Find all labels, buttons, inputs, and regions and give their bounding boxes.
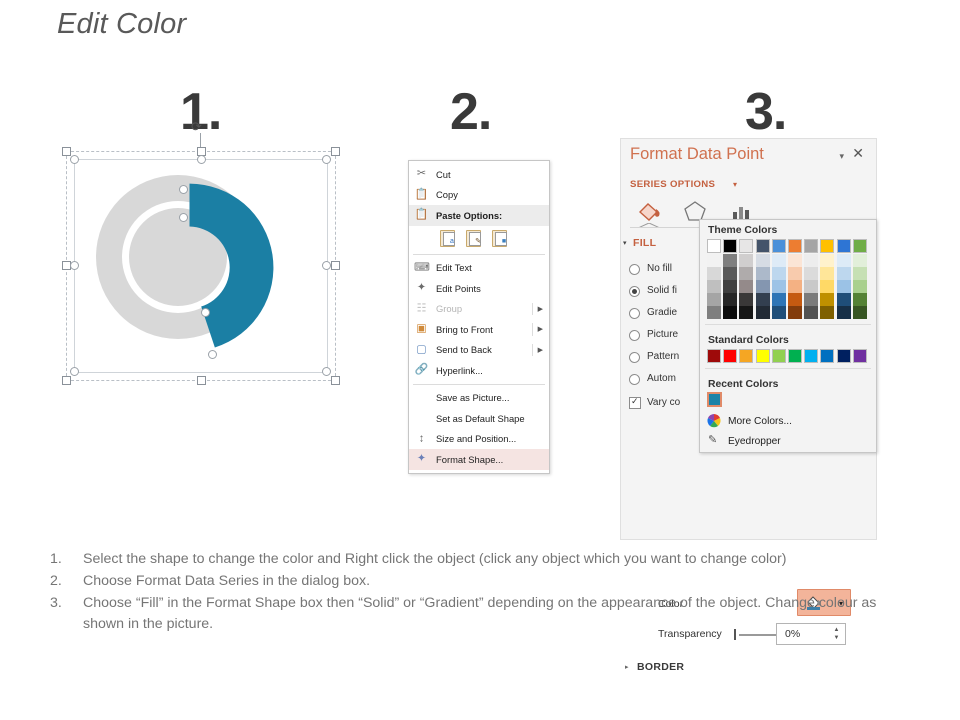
fill-option-picture[interactable]: Picture	[647, 329, 678, 340]
selection-handle-se[interactable]	[331, 376, 340, 385]
selection-handle-e[interactable]	[331, 261, 340, 270]
theme-shade-swatch-8-1[interactable]	[837, 267, 851, 280]
standard-color-swatch-2[interactable]	[739, 349, 753, 363]
close-icon[interactable]: ✕	[852, 146, 864, 160]
theme-shade-swatch-9-2[interactable]	[853, 280, 867, 293]
theme-shade-swatch-2-1[interactable]	[739, 267, 753, 280]
expand-triangle-icon[interactable]: ▸	[625, 663, 629, 671]
datapoint-handle-inner-top[interactable]	[179, 213, 188, 222]
step-number-3: 3.	[745, 86, 786, 138]
theme-shade-swatch-5-4[interactable]	[788, 306, 802, 319]
theme-shade-swatch-1-0[interactable]	[723, 254, 737, 267]
theme-shade-swatch-6-0[interactable]	[804, 254, 818, 267]
group-icon: ☷	[414, 301, 429, 316]
theme-shade-swatch-4-0[interactable]	[772, 254, 786, 267]
menu-item-hyperlink[interactable]: 🔗 Hyperlink...	[409, 360, 549, 381]
fill-bucket-icon[interactable]	[636, 199, 662, 223]
eyedropper-icon: ✎	[708, 434, 721, 447]
theme-shade-swatch-0-3[interactable]	[707, 293, 721, 306]
inner-handle-nw[interactable]	[70, 155, 79, 164]
theme-shade-swatch-1-3[interactable]	[723, 293, 737, 306]
theme-shade-row-1[interactable]	[700, 267, 876, 280]
fill-option-gradient[interactable]: Gradie	[647, 307, 677, 318]
format-shape-icon: ✦	[414, 452, 429, 467]
theme-shade-swatch-6-1[interactable]	[804, 267, 818, 280]
selection-handle-s[interactable]	[197, 376, 206, 385]
chevron-down-icon[interactable]: ▾	[733, 180, 737, 189]
theme-shade-swatch-7-3[interactable]	[820, 293, 834, 306]
theme-shade-swatch-8-4[interactable]	[837, 306, 851, 319]
fill-option-solid-fill[interactable]: Solid fi	[647, 285, 677, 296]
series-options-label[interactable]: SERIES OPTIONS	[630, 179, 715, 190]
theme-shade-swatch-9-3[interactable]	[853, 293, 867, 306]
standard-color-swatch-9[interactable]	[853, 349, 867, 363]
theme-shade-swatch-0-2[interactable]	[707, 280, 721, 293]
theme-shade-swatch-2-4[interactable]	[739, 306, 753, 319]
theme-shade-swatch-3-3[interactable]	[756, 293, 770, 306]
standard-color-swatch-1[interactable]	[723, 349, 737, 363]
theme-shade-swatch-0-0[interactable]	[707, 254, 721, 267]
fill-option-no-fill[interactable]: No fill	[647, 263, 672, 274]
inner-handle-sw[interactable]	[70, 367, 79, 376]
theme-color-swatch-8[interactable]	[837, 239, 851, 253]
menu-item-label: Bring to Front	[436, 324, 493, 335]
bring-front-icon: ▣	[414, 322, 429, 337]
theme-shade-swatch-9-1[interactable]	[853, 267, 867, 280]
inner-handle-n[interactable]	[197, 155, 206, 164]
fill-option-automatic[interactable]: Autom	[647, 373, 676, 384]
menu-item-label: Hyperlink...	[436, 365, 483, 376]
menu-item-label: Set as Default Shape	[436, 413, 525, 424]
menu-item-label: Edit Text	[436, 262, 472, 273]
send-back-icon: ▢	[414, 342, 429, 357]
hyperlink-icon: 🔗	[414, 363, 429, 378]
standard-color-swatch-7[interactable]	[820, 349, 834, 363]
menu-item-label: Format Shape...	[436, 454, 503, 465]
theme-shade-swatch-5-2[interactable]	[788, 280, 802, 293]
menu-item-save-as-picture[interactable]: Save as Picture...	[409, 388, 549, 409]
standard-color-swatch-8[interactable]	[837, 349, 851, 363]
menu-item-size-and-position[interactable]: ↕ Size and Position...	[409, 429, 549, 450]
menu-divider	[413, 384, 545, 385]
option-label: Solid fi	[647, 285, 677, 296]
theme-shade-swatch-4-3[interactable]	[772, 293, 786, 306]
theme-color-swatch-4[interactable]	[772, 239, 786, 253]
theme-shade-swatch-6-4[interactable]	[804, 306, 818, 319]
theme-shade-swatch-5-3[interactable]	[788, 293, 802, 306]
theme-shade-swatch-5-1[interactable]	[788, 267, 802, 280]
theme-color-swatch-2[interactable]	[739, 239, 753, 253]
standard-colors-row[interactable]	[700, 349, 876, 363]
instruction-item: 3. Choose “Fill” in the Format Shape box…	[50, 593, 890, 635]
theme-shade-swatch-2-0[interactable]	[739, 254, 753, 267]
theme-shade-swatch-3-0[interactable]	[756, 254, 770, 267]
theme-color-swatch-3[interactable]	[756, 239, 770, 253]
more-colors-icon	[707, 414, 721, 428]
theme-shade-swatch-8-3[interactable]	[837, 293, 851, 306]
inner-handle-se[interactable]	[322, 367, 331, 376]
theme-shade-swatch-0-1[interactable]	[707, 267, 721, 280]
edit-points-icon: ✦	[414, 281, 429, 296]
instruction-item: 2. Choose Format Data Series in the dial…	[50, 571, 890, 592]
standard-color-swatch-6[interactable]	[804, 349, 818, 363]
fill-option-pattern[interactable]: Pattern	[647, 351, 679, 362]
option-label: Vary co	[647, 397, 680, 408]
page-title: Edit Color	[57, 8, 186, 41]
standard-color-swatch-4[interactable]	[772, 349, 786, 363]
instruction-text: Choose “Fill” in the Format Shape box th…	[83, 593, 890, 635]
theme-colors-base-row[interactable]	[700, 239, 876, 253]
theme-shade-swatch-8-2[interactable]	[837, 280, 851, 293]
option-label: No fill	[647, 263, 672, 274]
menu-item-label: Cut	[436, 169, 451, 180]
selection-handle-ne[interactable]	[331, 147, 340, 156]
theme-shade-swatch-4-2[interactable]	[772, 280, 786, 293]
standard-color-swatch-0[interactable]	[707, 349, 721, 363]
theme-shade-row-4[interactable]	[700, 306, 876, 319]
standard-color-swatch-5[interactable]	[788, 349, 802, 363]
instruction-text: Choose Format Data Series in the dialog …	[83, 571, 890, 592]
theme-shade-swatch-5-0[interactable]	[788, 254, 802, 267]
instruction-number: 2.	[50, 571, 83, 592]
theme-shade-swatch-6-2[interactable]	[804, 280, 818, 293]
inner-handle-ne[interactable]	[322, 155, 331, 164]
pane-title: Format Data Point	[630, 145, 764, 164]
instruction-number: 1.	[50, 549, 83, 570]
chevron-right-icon: ▶	[538, 346, 543, 354]
theme-shade-swatch-1-4[interactable]	[723, 306, 737, 319]
theme-shade-swatch-6-3[interactable]	[804, 293, 818, 306]
theme-shade-swatch-4-4[interactable]	[772, 306, 786, 319]
menu-item-label: Save as Picture...	[436, 392, 509, 403]
theme-shade-swatch-9-0[interactable]	[853, 254, 867, 267]
menu-item-edit-text[interactable]: ⌨ Edit Text	[409, 258, 549, 279]
inner-handle-w[interactable]	[70, 261, 79, 270]
menu-divider	[413, 254, 545, 255]
theme-shade-row-3[interactable]	[700, 293, 876, 306]
more-colors-item[interactable]: More Colors...	[728, 416, 792, 427]
theme-shade-row-2[interactable]	[700, 280, 876, 293]
theme-shade-swatch-4-1[interactable]	[772, 267, 786, 280]
chart-selection-panel[interactable]: ⟳	[58, 145, 343, 390]
menu-item-paste-options: 📋 Paste Options:	[409, 205, 549, 226]
donut-highlighted-segment[interactable]	[92, 170, 287, 365]
theme-color-swatch-5[interactable]	[788, 239, 802, 253]
menu-item-format-shape[interactable]: ✦ Format Shape...	[409, 449, 549, 470]
theme-shade-swatch-7-4[interactable]	[820, 306, 834, 319]
theme-shade-swatch-0-4[interactable]	[707, 306, 721, 319]
datapoint-handle-bottom[interactable]	[208, 350, 217, 359]
instruction-text: Select the shape to change the color and…	[83, 549, 890, 570]
instructions-list: 1. Select the shape to change the color …	[50, 549, 890, 636]
theme-shade-swatch-7-1[interactable]	[820, 267, 834, 280]
instruction-item: 1. Select the shape to change the color …	[50, 549, 890, 570]
size-position-icon: ↕	[414, 431, 429, 446]
theme-shade-swatch-1-1[interactable]	[723, 267, 737, 280]
donut-chart[interactable]	[96, 175, 291, 370]
menu-item-bring-to-front[interactable]: ▣ Bring to Front ▶	[409, 319, 549, 340]
standard-color-swatch-3[interactable]	[756, 349, 770, 363]
theme-color-swatch-0[interactable]	[707, 239, 721, 253]
eyedropper-item[interactable]: Eyedropper	[728, 436, 781, 447]
theme-shade-swatch-3-4[interactable]	[756, 306, 770, 319]
chevron-right-icon: ▶	[538, 325, 543, 333]
flyout-divider	[705, 324, 871, 325]
theme-colors-header: Theme Colors	[700, 220, 876, 239]
option-label: Gradie	[647, 307, 677, 318]
datapoint-handle-inner-bottom[interactable]	[201, 308, 210, 317]
chevron-right-icon: ▶	[538, 305, 543, 313]
paste-picture-icon[interactable]: ■	[491, 229, 508, 246]
border-section-header[interactable]: BORDER	[637, 661, 684, 673]
theme-color-swatch-1[interactable]	[723, 239, 737, 253]
scissors-icon: ✂	[414, 167, 429, 182]
paste-options-row[interactable]: a ✎ ■	[409, 226, 549, 251]
theme-shade-swatch-2-2[interactable]	[739, 280, 753, 293]
copy-icon: 📋	[414, 187, 429, 202]
menu-item-label: Copy	[436, 189, 458, 200]
theme-shade-swatch-2-3[interactable]	[739, 293, 753, 306]
instruction-number: 3.	[50, 593, 83, 635]
theme-shade-swatch-7-0[interactable]	[820, 254, 834, 267]
context-menu[interactable]: ✂ Cut 📋 Copy 📋 Paste Options: a ✎ ■ ⌨ Ed…	[408, 160, 550, 474]
theme-shade-swatch-7-2[interactable]	[820, 280, 834, 293]
flyout-divider	[705, 368, 871, 369]
edit-text-icon: ⌨	[414, 260, 429, 275]
theme-shade-row-0[interactable]	[700, 254, 876, 267]
menu-item-copy[interactable]: 📋 Copy	[409, 185, 549, 206]
menu-item-label: Paste Options:	[436, 210, 502, 221]
menu-item-group: ☷ Group ▶	[409, 299, 549, 320]
paste-keep-text-icon[interactable]: a	[439, 229, 456, 246]
recent-colors-header: Recent Colors	[700, 374, 876, 393]
standard-colors-header: Standard Colors	[700, 330, 876, 349]
option-label: Picture	[647, 329, 678, 340]
color-picker-flyout[interactable]: Theme Colors Standard Colors Recent Colo…	[699, 219, 877, 453]
theme-shade-swatch-3-1[interactable]	[756, 267, 770, 280]
selection-handle-nw[interactable]	[62, 147, 71, 156]
theme-shade-swatch-3-2[interactable]	[756, 280, 770, 293]
inner-handle-e[interactable]	[322, 261, 331, 270]
chevron-down-icon[interactable]: ▾	[839, 151, 844, 162]
recent-color-swatch[interactable]	[707, 392, 722, 407]
rotate-handle-icon[interactable]: ⟳	[191, 120, 207, 134]
theme-shade-swatch-1-2[interactable]	[723, 280, 737, 293]
menu-item-set-default-shape[interactable]: Set as Default Shape	[409, 408, 549, 429]
option-label: Pattern	[647, 351, 679, 362]
clipboard-icon: 📋	[414, 208, 429, 223]
menu-item-label: Send to Back	[436, 344, 492, 355]
option-label: Autom	[647, 373, 676, 384]
collapse-triangle-icon[interactable]: ▾	[623, 239, 627, 247]
menu-item-send-to-back[interactable]: ▢ Send to Back ▶	[409, 340, 549, 361]
theme-shade-swatch-8-0[interactable]	[837, 254, 851, 267]
fill-section-header[interactable]: FILL	[633, 237, 656, 249]
theme-shade-swatch-9-4[interactable]	[853, 306, 867, 319]
menu-item-label: Group	[436, 303, 462, 314]
datapoint-handle-top[interactable]	[179, 185, 188, 194]
theme-color-swatch-9[interactable]	[853, 239, 867, 253]
menu-item-label: Edit Points	[436, 283, 481, 294]
theme-color-swatch-6[interactable]	[804, 239, 818, 253]
theme-colors-shade-rows[interactable]	[700, 253, 876, 319]
menu-item-edit-points[interactable]: ✦ Edit Points	[409, 278, 549, 299]
theme-color-swatch-7[interactable]	[820, 239, 834, 253]
step-number-2: 2.	[450, 86, 491, 138]
vary-colors-checkbox[interactable]: Vary co	[647, 397, 680, 408]
menu-item-label: Size and Position...	[436, 433, 516, 444]
selection-handle-sw[interactable]	[62, 376, 71, 385]
paste-keep-formatting-icon[interactable]: ✎	[465, 229, 482, 246]
menu-item-cut[interactable]: ✂ Cut	[409, 164, 549, 185]
